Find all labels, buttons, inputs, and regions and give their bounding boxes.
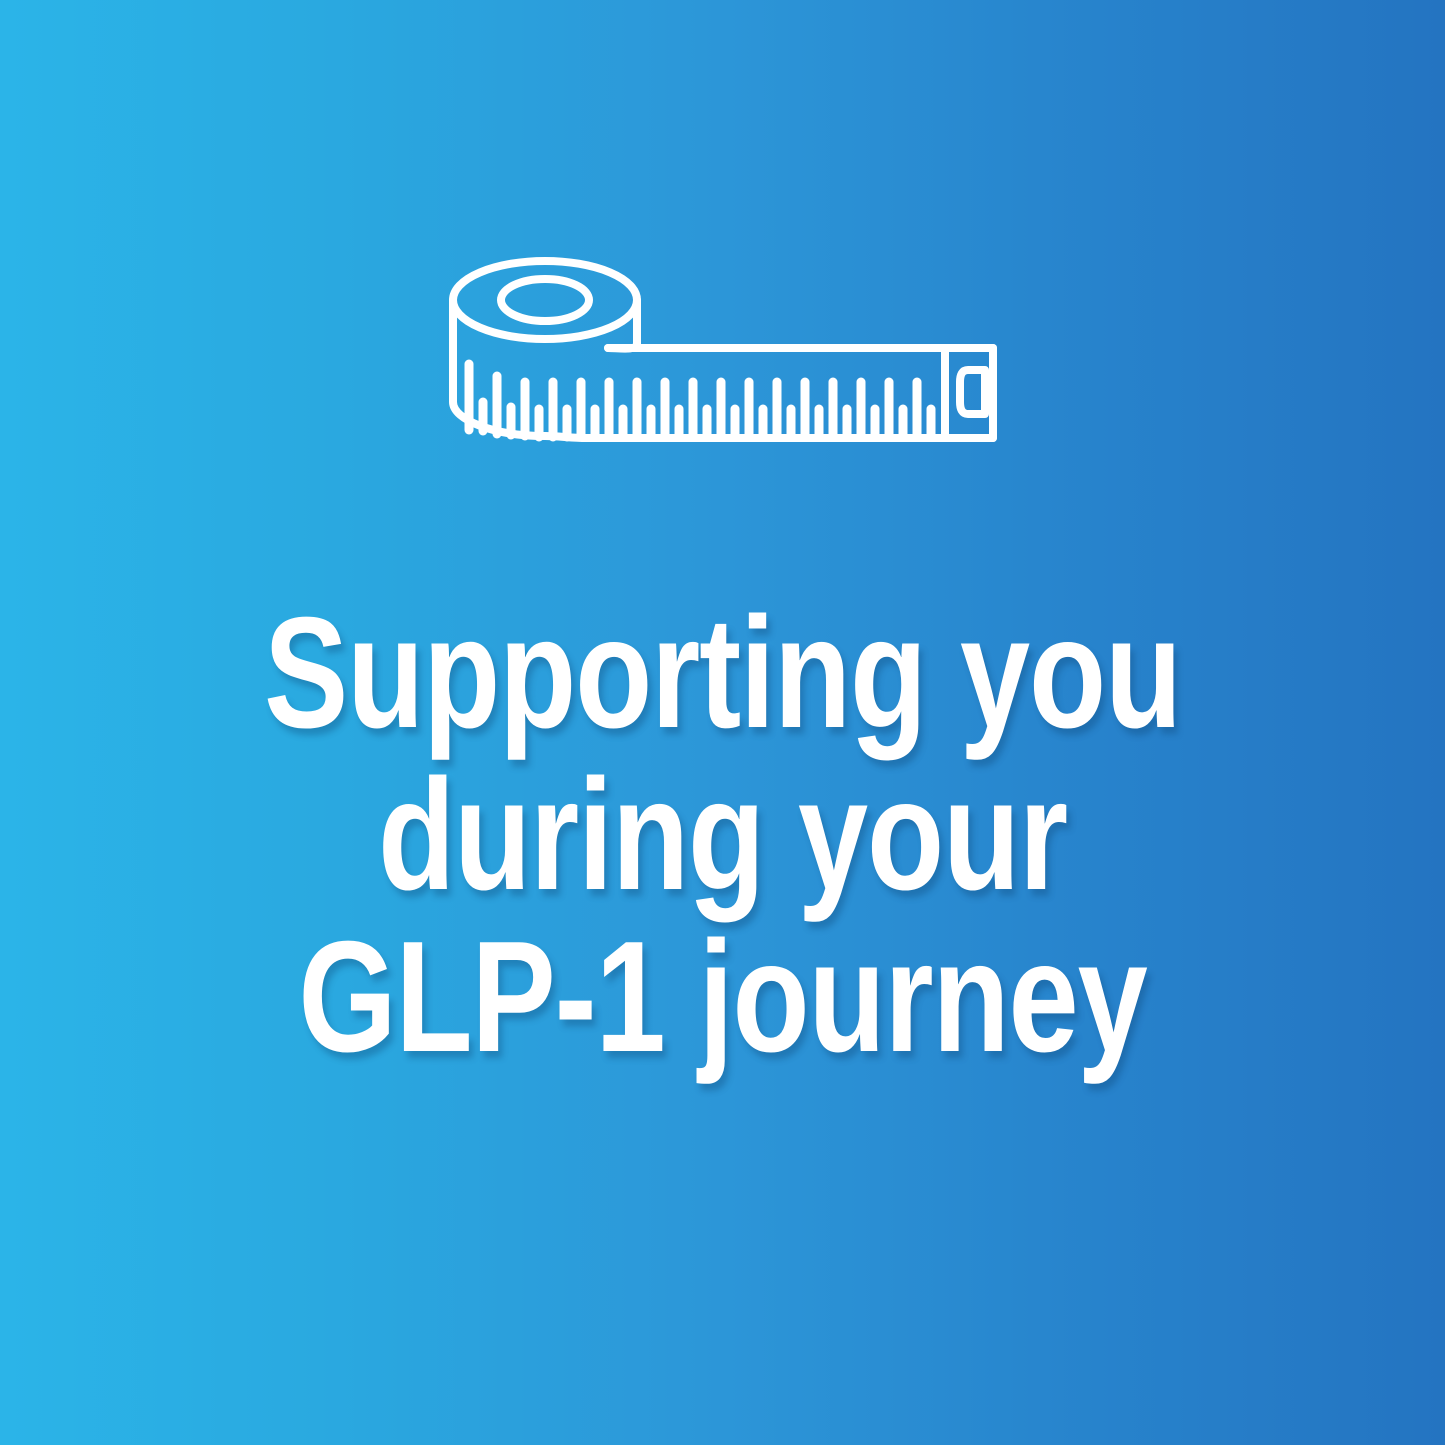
icon-container [0, 252, 1445, 464]
roll-outer-top-ellipse [453, 261, 637, 339]
roll-inner-hole-ellipse [501, 279, 589, 321]
poster-canvas: Supporting you during your GLP-1 journey [0, 0, 1445, 1445]
ruler-tick-group [469, 364, 931, 437]
headline-line-1: Supporting you [177, 592, 1269, 754]
end-clip-slot [960, 370, 985, 414]
headline-line-3: GLP-1 journey [177, 916, 1269, 1078]
tape-measure-icon [440, 252, 1006, 464]
headline-line-2: during your [177, 754, 1269, 916]
headline-block: Supporting you during your GLP-1 journey [0, 592, 1445, 1078]
